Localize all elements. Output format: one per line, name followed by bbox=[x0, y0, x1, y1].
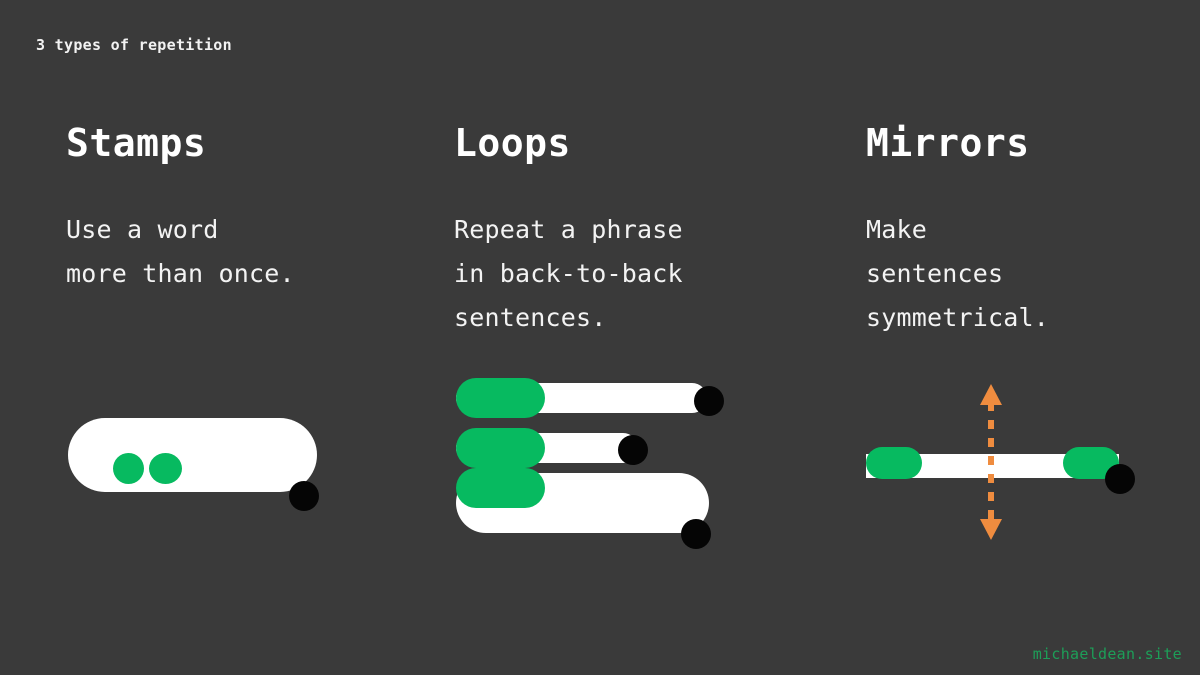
column-body-mirrors: Make sentences symmetrical. bbox=[866, 208, 1200, 340]
slide-kicker: 3 types of repetition bbox=[36, 36, 232, 54]
column-title-mirrors: Mirrors bbox=[866, 124, 1200, 162]
loops-green-pill-2 bbox=[456, 428, 545, 468]
footer-site-credit: michaeldean.site bbox=[1033, 645, 1182, 663]
loops-diagram bbox=[448, 370, 778, 550]
loops-black-dot-2 bbox=[618, 435, 648, 465]
column-body-loops: Repeat a phrase in back-to-back sentence… bbox=[454, 208, 814, 340]
stamps-green-dot-2 bbox=[149, 453, 182, 484]
mirrors-black-dot bbox=[1105, 464, 1135, 494]
column-title-loops: Loops bbox=[454, 124, 814, 162]
slide-canvas: 3 types of repetition Stamps Use a word … bbox=[0, 0, 1200, 675]
mirrors-green-pill-left bbox=[866, 447, 922, 479]
stamps-black-dot bbox=[289, 481, 319, 511]
stamps-green-dot-1 bbox=[113, 453, 144, 484]
stamps-white-bar bbox=[68, 418, 317, 492]
loops-black-dot-3 bbox=[681, 519, 711, 549]
mirrors-symmetry-axis-arrow-icon bbox=[976, 382, 1006, 542]
stamps-diagram bbox=[60, 370, 390, 550]
loops-black-dot-1 bbox=[694, 386, 724, 416]
column-loops: Loops Repeat a phrase in back-to-back se… bbox=[454, 124, 814, 340]
column-stamps: Stamps Use a word more than once. bbox=[66, 124, 426, 296]
loops-green-pill-3 bbox=[456, 468, 545, 508]
mirrors-diagram bbox=[858, 370, 1188, 550]
column-title-stamps: Stamps bbox=[66, 124, 426, 162]
column-mirrors: Mirrors Make sentences symmetrical. bbox=[866, 124, 1200, 340]
loops-green-pill-1 bbox=[456, 378, 545, 418]
column-body-stamps: Use a word more than once. bbox=[66, 208, 426, 296]
